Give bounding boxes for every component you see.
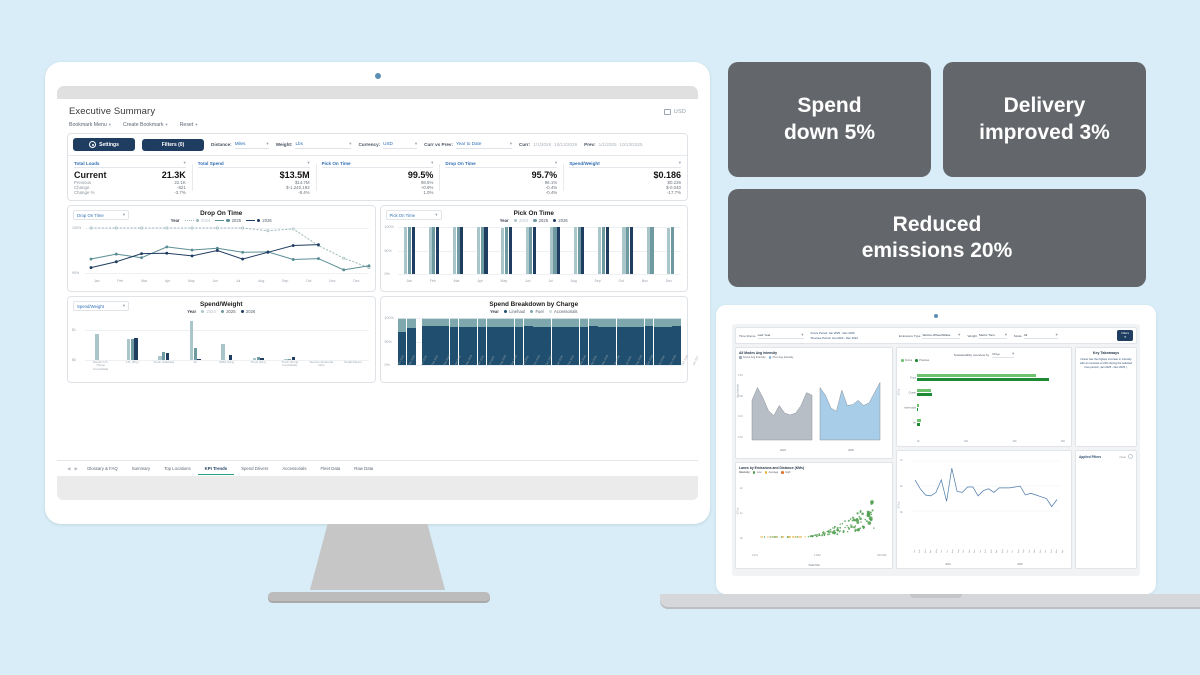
bar[interactable] xyxy=(581,227,584,274)
chevron-down-icon[interactable]: ▾ xyxy=(555,160,557,166)
legend-item[interactable]: Focus Avg Intensity xyxy=(739,356,766,359)
currency-chip-label: USD xyxy=(674,109,686,115)
x-axis-tick: 0.0mi xyxy=(752,554,758,561)
bar[interactable] xyxy=(457,227,460,274)
chart-title: All Modes Avg Intensity xyxy=(739,351,889,355)
y-axis-tick: 0.32 xyxy=(738,436,743,439)
stack-segment xyxy=(542,319,551,327)
tab-summary[interactable]: Summary xyxy=(125,463,157,475)
bar[interactable] xyxy=(436,227,439,274)
x-axis-tick: 600 xyxy=(1061,440,1065,443)
bar[interactable] xyxy=(671,227,674,274)
bar[interactable] xyxy=(550,227,553,274)
tabs-prev-icon[interactable]: ◀ xyxy=(65,466,72,472)
legend-label: High xyxy=(785,471,790,474)
bar[interactable] xyxy=(477,227,480,274)
x-axis-tick: Sep xyxy=(595,279,601,283)
legend-item[interactable]: 2025 xyxy=(533,218,548,223)
bar[interactable] xyxy=(408,227,411,274)
x-axis-tick: Oct xyxy=(306,279,311,283)
bar[interactable] xyxy=(622,227,625,274)
legend-item[interactable]: Low xyxy=(753,471,762,474)
scatter-points xyxy=(752,485,886,543)
legend-item[interactable]: 2026 xyxy=(241,309,256,314)
monitor-chin xyxy=(57,476,698,500)
bar-group xyxy=(453,227,463,274)
callout-emissions-line2: emissions 20% xyxy=(862,238,1013,264)
stack-segment xyxy=(468,319,477,327)
prev-from-date[interactable]: 1/1/2025 xyxy=(599,142,617,147)
currency-filter-value: USD xyxy=(383,141,393,146)
callout-spend-line1: Spend xyxy=(784,93,875,119)
curr-to-date[interactable]: 10/13/2026 xyxy=(554,142,577,147)
stack-segment xyxy=(487,319,496,327)
distance-filter-select[interactable]: Miles ▾ xyxy=(235,141,269,149)
bar[interactable] xyxy=(460,227,463,274)
x-axis-tick: Jan xyxy=(406,279,412,283)
stack-segment xyxy=(635,319,644,327)
kpi-header: Pick On Time▾ xyxy=(322,160,434,168)
kpi-title: Pick On Time xyxy=(322,161,351,166)
chevron-down-icon: ▾ xyxy=(1056,332,1058,338)
legend-swatch xyxy=(781,471,784,474)
x-axis-tick: Truck (Flatbed) xyxy=(152,361,176,364)
x-axis-tick: Apr xyxy=(165,279,170,283)
chart-legend: YearLinehaulFuelAccessorials xyxy=(385,309,684,314)
bar-group xyxy=(158,318,169,360)
bar[interactable] xyxy=(127,339,130,360)
x-axis: JanFebMarAprMayJunJulAugSepOctNovDec xyxy=(398,279,682,283)
category-label: Intermodal xyxy=(897,406,916,409)
weight-filter[interactable]: Weight Metric Tons ▾ xyxy=(967,332,1007,339)
legend-item[interactable]: Accessorials xyxy=(549,309,578,314)
kpi-header: Total Spend▾ xyxy=(198,160,310,168)
bar[interactable] xyxy=(650,227,653,274)
weight-filter[interactable]: Weight: Lbs ▾ xyxy=(276,141,352,149)
tab-raw-data[interactable]: Raw Data xyxy=(347,463,380,475)
bar-group xyxy=(550,227,560,274)
bar-group xyxy=(526,227,536,274)
chart-plot-drop-on-time: 100%90%JanFebMarAprMayJunJulAugSepOctNov… xyxy=(72,225,371,283)
bar[interactable] xyxy=(453,227,456,274)
laptop-trackpad-notch xyxy=(910,594,962,598)
legend-label: Focus Avg Intensity xyxy=(743,356,765,359)
x-axis-tick: Sep xyxy=(958,549,960,553)
legend-item[interactable]: 2024 xyxy=(201,309,216,314)
bar[interactable] xyxy=(647,227,650,274)
x-axis-tick: Jan xyxy=(980,549,982,553)
legend-swatch xyxy=(549,310,552,313)
currency-chip[interactable]: USD xyxy=(664,109,686,115)
x-axis-tick: May xyxy=(188,279,195,283)
bookmark-menu-button[interactable]: Bookmark Menu ▾ xyxy=(69,122,111,128)
reset-label: Reset xyxy=(180,122,194,128)
bar[interactable] xyxy=(509,227,512,274)
kpi-card: Spend/Weight▾$0.186$0.226$-0.040-17.7% xyxy=(563,160,687,195)
bar[interactable] xyxy=(166,353,169,360)
bar[interactable] xyxy=(197,359,200,360)
y-axis-tick: 100% xyxy=(385,316,394,320)
bar[interactable] xyxy=(481,227,484,274)
kpi-title: Total Loads xyxy=(74,161,99,166)
weight-select[interactable]: Metric Tons ▾ xyxy=(979,332,1007,339)
bar[interactable] xyxy=(429,227,432,274)
currency-filter-select[interactable]: USD ▾ xyxy=(383,141,417,149)
spend-weight-metric-value: Spend/Weight xyxy=(77,304,104,309)
x-axis-group-label: 2024 xyxy=(913,563,983,566)
legend-item[interactable]: 2025 xyxy=(221,309,236,314)
bar-row: Ocean xyxy=(917,385,1065,400)
kpi-values: Current21.3KPrevious22.1KChange-821Chang… xyxy=(74,170,186,195)
focus-period-label: Focus Period: Jan 2025 - Dec 2025 xyxy=(811,331,858,335)
y-axis-tick: 0% xyxy=(385,272,390,276)
chevron-down-icon: ▾ xyxy=(801,332,803,338)
x-axis-tick: Feb xyxy=(430,279,436,283)
emissions-type-filter[interactable]: Emissions Type Well-to-Wheel/Wake ▾ xyxy=(899,332,961,339)
y-axis-tick: 50% xyxy=(385,249,392,253)
legend-label: 2024 xyxy=(519,218,528,223)
chevron-down-icon: ▾ xyxy=(165,122,167,128)
bar[interactable] xyxy=(505,227,508,274)
area-plot: 0.040.080.160.32 xyxy=(750,370,888,442)
app-window-chrome xyxy=(57,86,698,99)
bar[interactable] xyxy=(221,344,224,360)
chart-row-bottom: Spend/Weight ▾ Spend/Weight Year20242025… xyxy=(67,296,688,383)
chevron-down-icon[interactable]: ▾ xyxy=(184,160,186,166)
tab-kpi-trends[interactable]: KPI Trends xyxy=(198,463,234,475)
bar[interactable] xyxy=(667,228,670,274)
legend-item[interactable]: 2024 xyxy=(514,218,529,223)
bar[interactable] xyxy=(917,393,932,396)
bar[interactable] xyxy=(578,227,581,274)
legend-item[interactable]: 2025 xyxy=(215,218,241,223)
kpi-value: 99.5% xyxy=(408,170,434,180)
x-axis-tick: Apr xyxy=(1062,549,1064,553)
mode-select[interactable]: All ▾ xyxy=(1024,332,1058,339)
legend-swatch xyxy=(901,359,904,362)
category-label: Air xyxy=(897,421,916,424)
bar[interactable] xyxy=(95,334,98,360)
bar[interactable] xyxy=(917,374,1036,377)
distance-filter-value: Miles xyxy=(235,141,246,146)
kpi-line: -17.7% xyxy=(569,190,681,195)
legend-swatch xyxy=(530,310,533,313)
currency-filter[interactable]: Currency: USD ▾ xyxy=(358,141,417,149)
legend-item[interactable]: 2024 xyxy=(185,218,211,223)
x-axis-tick: Apr xyxy=(930,549,932,553)
kpi-line: Current21.3K xyxy=(74,170,186,180)
x-axis-tick: Sep xyxy=(1023,549,1025,553)
bar[interactable] xyxy=(412,227,415,274)
bar[interactable] xyxy=(529,227,532,274)
bar[interactable] xyxy=(917,404,919,407)
legend-swatch xyxy=(246,220,255,221)
x-axis-tick: Mar xyxy=(141,279,147,283)
bar[interactable] xyxy=(917,408,918,411)
kpi-value: 21.3K xyxy=(162,170,186,180)
legend-item[interactable]: Average xyxy=(765,471,779,474)
laptop-filters-button[interactable]: Filters ▼ xyxy=(1117,330,1133,341)
bar[interactable] xyxy=(917,419,921,422)
legend-label: 2026 xyxy=(262,218,271,223)
bar[interactable] xyxy=(404,227,407,274)
bar[interactable] xyxy=(432,227,435,274)
dashboard-column-center: Sustainability overview by CO₂e ▾ FocusP… xyxy=(896,347,1072,569)
curr-vs-prev-filter[interactable]: Curr vs Prev: Year to Date ▾ xyxy=(424,141,512,149)
y-axis-tick: 50% xyxy=(385,340,392,344)
chart-card-sustainability-overview: Sustainability overview by CO₂e ▾ FocusP… xyxy=(896,347,1072,447)
mode-filter[interactable]: Mode All ▾ xyxy=(1014,332,1058,339)
settings-label: Settings xyxy=(99,142,119,148)
y-axis-tick: 0.04 xyxy=(738,374,743,377)
stack-segment xyxy=(589,319,598,327)
legend-swatch xyxy=(915,359,918,362)
drop-on-time-metric-select[interactable]: Drop On Time ▾ xyxy=(73,210,129,220)
stack-segment xyxy=(663,319,672,327)
prev-to-date[interactable]: 10/13/2025 xyxy=(620,142,643,147)
stack-segment xyxy=(580,319,589,327)
page-title: Executive Summary xyxy=(69,106,155,117)
kpi-values: 95.7%96.1%-0.4%-0.4% xyxy=(445,170,557,195)
weight-filter-select[interactable]: Lbs ▾ xyxy=(295,141,351,149)
area-series xyxy=(750,370,882,444)
bar[interactable] xyxy=(626,227,629,274)
stack-segment xyxy=(515,319,524,327)
curr-vs-prev-value: Year to Date xyxy=(456,141,481,146)
x-axis-tick: Sep xyxy=(282,279,288,283)
bar[interactable] xyxy=(917,423,920,426)
kpi-card: Total Loads▾Current21.3KPrevious22.1KCha… xyxy=(68,160,192,195)
y-axis-tick: 100% xyxy=(385,225,394,229)
tab-fleet-data[interactable]: Fleet Data xyxy=(313,463,347,475)
bar-group xyxy=(284,318,295,360)
x-axis-tick: LTL (Dry) xyxy=(120,361,144,364)
legend-item[interactable]: Fuel xyxy=(530,309,544,314)
bar[interactable] xyxy=(526,227,529,274)
key-takeaways-title: Key Takeaways xyxy=(1079,351,1133,355)
bar[interactable] xyxy=(162,352,165,360)
x-axis-tick: Nov xyxy=(969,549,971,553)
y-axis-tick: $1 xyxy=(72,328,76,332)
chart-title: Spend Breakdown by Charge xyxy=(385,301,684,308)
legend-label: Prev Avg Intensity xyxy=(773,356,794,359)
x-axis-tick: Dec xyxy=(1040,549,1042,553)
kpi-value: $0.186 xyxy=(653,170,681,180)
pick-on-time-metric-select[interactable]: Pick On Time ▾ xyxy=(386,210,442,220)
stack-segment xyxy=(459,319,468,327)
clear-icon xyxy=(1128,454,1133,459)
legend-item[interactable]: 2026 xyxy=(246,218,272,223)
sustainability-dashboard: Time Frame Last Year ▾ Focus Period: Jan… xyxy=(732,324,1140,576)
bar[interactable] xyxy=(484,227,487,274)
chart-legend: Focus Avg IntensityPrev Avg Intensity xyxy=(739,356,889,359)
time-frame-select[interactable]: Last Year ▾ xyxy=(758,332,804,339)
tab-glossary-faq[interactable]: Glossary & FAQ xyxy=(80,463,125,475)
y-axis-tick: 0k xyxy=(900,511,903,514)
usd-icon xyxy=(664,109,671,115)
callout-spend-line2: down 5% xyxy=(784,120,875,146)
chart-card-spend-breakdown: Spend Breakdown by Charge YearLinehaulFu… xyxy=(380,296,689,383)
curr-from-date[interactable]: 1/1/2026 xyxy=(533,142,551,147)
emissions-type-select[interactable]: Well-to-Wheel/Wake ▾ xyxy=(922,332,960,339)
x-axis-tick: Feb xyxy=(1051,549,1053,553)
kpi-value: 1.0% xyxy=(423,190,433,195)
period-summary: Focus Period: Jan 2025 - Dec 2025 Previo… xyxy=(811,331,858,339)
bar-series xyxy=(85,318,369,360)
chevron-down-icon[interactable]: ▾ xyxy=(307,160,309,166)
chevron-down-icon: ▾ xyxy=(435,212,437,218)
bar[interactable] xyxy=(533,227,536,274)
legend-swatch xyxy=(553,219,556,222)
weight-filter-value: Lbs xyxy=(295,141,302,146)
spend-weight-metric-select[interactable]: Spend/Weight ▾ xyxy=(73,301,129,311)
legend-item[interactable]: High xyxy=(781,471,790,474)
bar[interactable] xyxy=(917,378,1049,381)
legend-swatch xyxy=(221,310,224,313)
applied-filters-card: Applied Filters Clear xyxy=(1075,450,1137,569)
current-date-range[interactable]: Curr: 1/1/2026 10/13/2026 xyxy=(519,142,577,147)
tabs-next-icon[interactable]: ▶ xyxy=(72,466,79,472)
chevron-down-icon[interactable]: ▾ xyxy=(431,160,433,166)
bar-group xyxy=(574,227,584,274)
stack-segment xyxy=(607,319,616,327)
bar[interactable] xyxy=(917,389,931,392)
bar-row: Truck xyxy=(917,370,1065,385)
legend-item[interactable]: Prev Avg Intensity xyxy=(769,356,794,359)
distance-filter[interactable]: Distance: Miles ▾ xyxy=(211,141,269,149)
bar[interactable] xyxy=(602,227,605,274)
app-header: Executive Summary USD xyxy=(57,99,698,120)
previous-date-range[interactable]: Prev: 1/1/2025 10/13/2025 xyxy=(584,142,642,147)
x-axis-tick: Aug xyxy=(1018,549,1020,553)
tab-spend-drivers[interactable]: Spend Drivers xyxy=(234,463,275,475)
chart-plot-spend-breakdown: 100%50%0%Nov 2024Dec 2024Jan 2025Feb 202… xyxy=(385,316,684,378)
x-axis: JanFebMarAprMayJunJulAugSepOctNovDecJanF… xyxy=(911,550,1067,566)
x-axis-group-label: 2025 xyxy=(820,449,882,452)
category-label: Ocean xyxy=(897,391,916,394)
chart-title: Sustainability overview by xyxy=(954,353,989,357)
legend-item[interactable]: Focus xyxy=(901,359,912,362)
bar[interactable] xyxy=(598,227,601,274)
chevron-down-icon: ▾ xyxy=(958,332,960,338)
executive-summary-app: Executive Summary USD Bookmark Menu ▾ Cr… xyxy=(57,86,698,476)
time-frame-filter[interactable]: Time Frame Last Year ▾ xyxy=(739,332,804,339)
horizontal-bars: TruckOceanIntermodalAir xyxy=(917,370,1065,430)
tab-accessorials[interactable]: Accessorials xyxy=(275,463,313,475)
x-axis-tick: Mar xyxy=(991,549,993,553)
tab-top-locations[interactable]: Top Locations xyxy=(157,463,198,475)
legend-swatch xyxy=(739,356,742,359)
x-axis-tick: Dec xyxy=(666,279,672,283)
bar[interactable] xyxy=(194,348,197,360)
clear-filters-button[interactable]: Clear xyxy=(1119,454,1133,459)
settings-button[interactable]: Settings xyxy=(73,138,135,151)
x-axis-tick: Truck (Dry) xyxy=(246,361,270,364)
kpi-card: Total Spend▾$13.5M$14.7M$-1,240,193-8.4% xyxy=(192,160,316,195)
x-axis-tick: Jan xyxy=(914,549,916,553)
applied-filters-title: Applied Filters xyxy=(1079,455,1101,459)
kpi-header: Drop On Time▾ xyxy=(445,160,557,168)
chart-card-spend-weight: Spend/Weight ▾ Spend/Weight Year20242025… xyxy=(67,296,376,383)
desktop-monitor: Executive Summary USD Bookmark Menu ▾ Cr… xyxy=(45,62,710,524)
overview-metric-select[interactable]: CO₂e ▾ xyxy=(992,351,1014,358)
chevron-down-icon: ▾ xyxy=(510,141,512,147)
stack-segment xyxy=(645,319,654,327)
bar[interactable] xyxy=(501,228,504,274)
stack-segment xyxy=(398,319,407,331)
legend-item[interactable]: Linehaul xyxy=(504,309,525,314)
scatter-plot: 2k1k0k xyxy=(752,485,887,552)
laptop-dashboard-grid: All Modes Avg Intensity Focus Avg Intens… xyxy=(735,347,1137,569)
legend-title: Year xyxy=(500,218,509,223)
curr-vs-prev-label: Curr vs Prev: xyxy=(424,142,453,147)
x-axis-tick: Small Parcel xyxy=(341,361,365,364)
y-axis-tick: $0 xyxy=(72,358,76,362)
bar[interactable] xyxy=(606,227,609,274)
stack-segment xyxy=(533,319,542,327)
laptop-camera-icon xyxy=(934,314,938,318)
gridline xyxy=(398,274,682,275)
bar-group xyxy=(477,227,487,274)
create-bookmark-button[interactable]: Create Bookmark ▾ xyxy=(123,122,168,128)
x-axis-tick: Jun xyxy=(941,549,943,553)
bar[interactable] xyxy=(574,227,577,274)
bar[interactable] xyxy=(553,227,556,274)
x-axis-tick: 400 xyxy=(1013,440,1017,443)
legend-item[interactable]: Previous xyxy=(915,359,929,362)
x-axis-tick: Feb xyxy=(919,549,921,553)
legend-label: 2024 xyxy=(206,309,215,314)
bar[interactable] xyxy=(190,321,193,360)
previous-period-label: Previous Period: Jan 2024 - Dec 2024 xyxy=(811,336,858,340)
legend-item[interactable]: 2026 xyxy=(553,218,568,223)
legend-label: Average xyxy=(769,471,779,474)
bar[interactable] xyxy=(630,227,633,274)
bar[interactable] xyxy=(134,338,137,360)
callout-card-delivery: Delivery improved 3% xyxy=(943,62,1146,177)
y-axis-tick: 1k xyxy=(740,512,743,515)
kpi-line: 95.7% xyxy=(445,170,557,180)
x-axis: Reefer LTL (Temp Controlled)LTL (Dry)Tru… xyxy=(85,361,369,376)
legend-label: 2025 xyxy=(226,309,235,314)
kpi-row-label: Change % xyxy=(74,190,95,195)
x-axis-tick: Apr xyxy=(477,279,482,283)
x-axis-ticks: 0k200400600 xyxy=(917,440,1065,443)
kpi-header: Spend/Weight▾ xyxy=(569,160,681,168)
kpi-value: -3.7% xyxy=(174,190,185,195)
curr-vs-prev-select[interactable]: Year to Date ▾ xyxy=(456,141,512,149)
legend-label: Accessorials xyxy=(554,309,578,314)
reset-button[interactable]: Reset ▾ xyxy=(180,122,198,128)
legend-swatch xyxy=(769,356,772,359)
kpi-line: -0.4% xyxy=(445,190,557,195)
bar-row: Intermodal xyxy=(917,400,1065,415)
bar[interactable] xyxy=(131,339,134,360)
bar[interactable] xyxy=(557,227,560,274)
x-axis-tick: Jul xyxy=(236,279,240,283)
callout-card-spend: Spend down 5% xyxy=(728,62,931,177)
filters-button[interactable]: Filters (0) xyxy=(142,139,204,151)
filters-label: Filters (0) xyxy=(162,142,185,148)
kpi-value: $13.5M xyxy=(280,170,310,180)
x-axis-tick: May xyxy=(936,549,938,553)
chart-card-all-modes-avg-intensity: All Modes Avg Intensity Focus Avg Intens… xyxy=(735,347,893,459)
chart-card-pick-on-time: Pick On Time ▾ Pick On Time Year20242025… xyxy=(380,205,689,292)
y-axis-tick: 4k xyxy=(900,485,903,488)
monitor-screen: Executive Summary USD Bookmark Menu ▾ Cr… xyxy=(57,86,698,476)
x-axis: 20242025 xyxy=(750,443,888,456)
chevron-down-icon[interactable]: ▾ xyxy=(679,160,681,166)
